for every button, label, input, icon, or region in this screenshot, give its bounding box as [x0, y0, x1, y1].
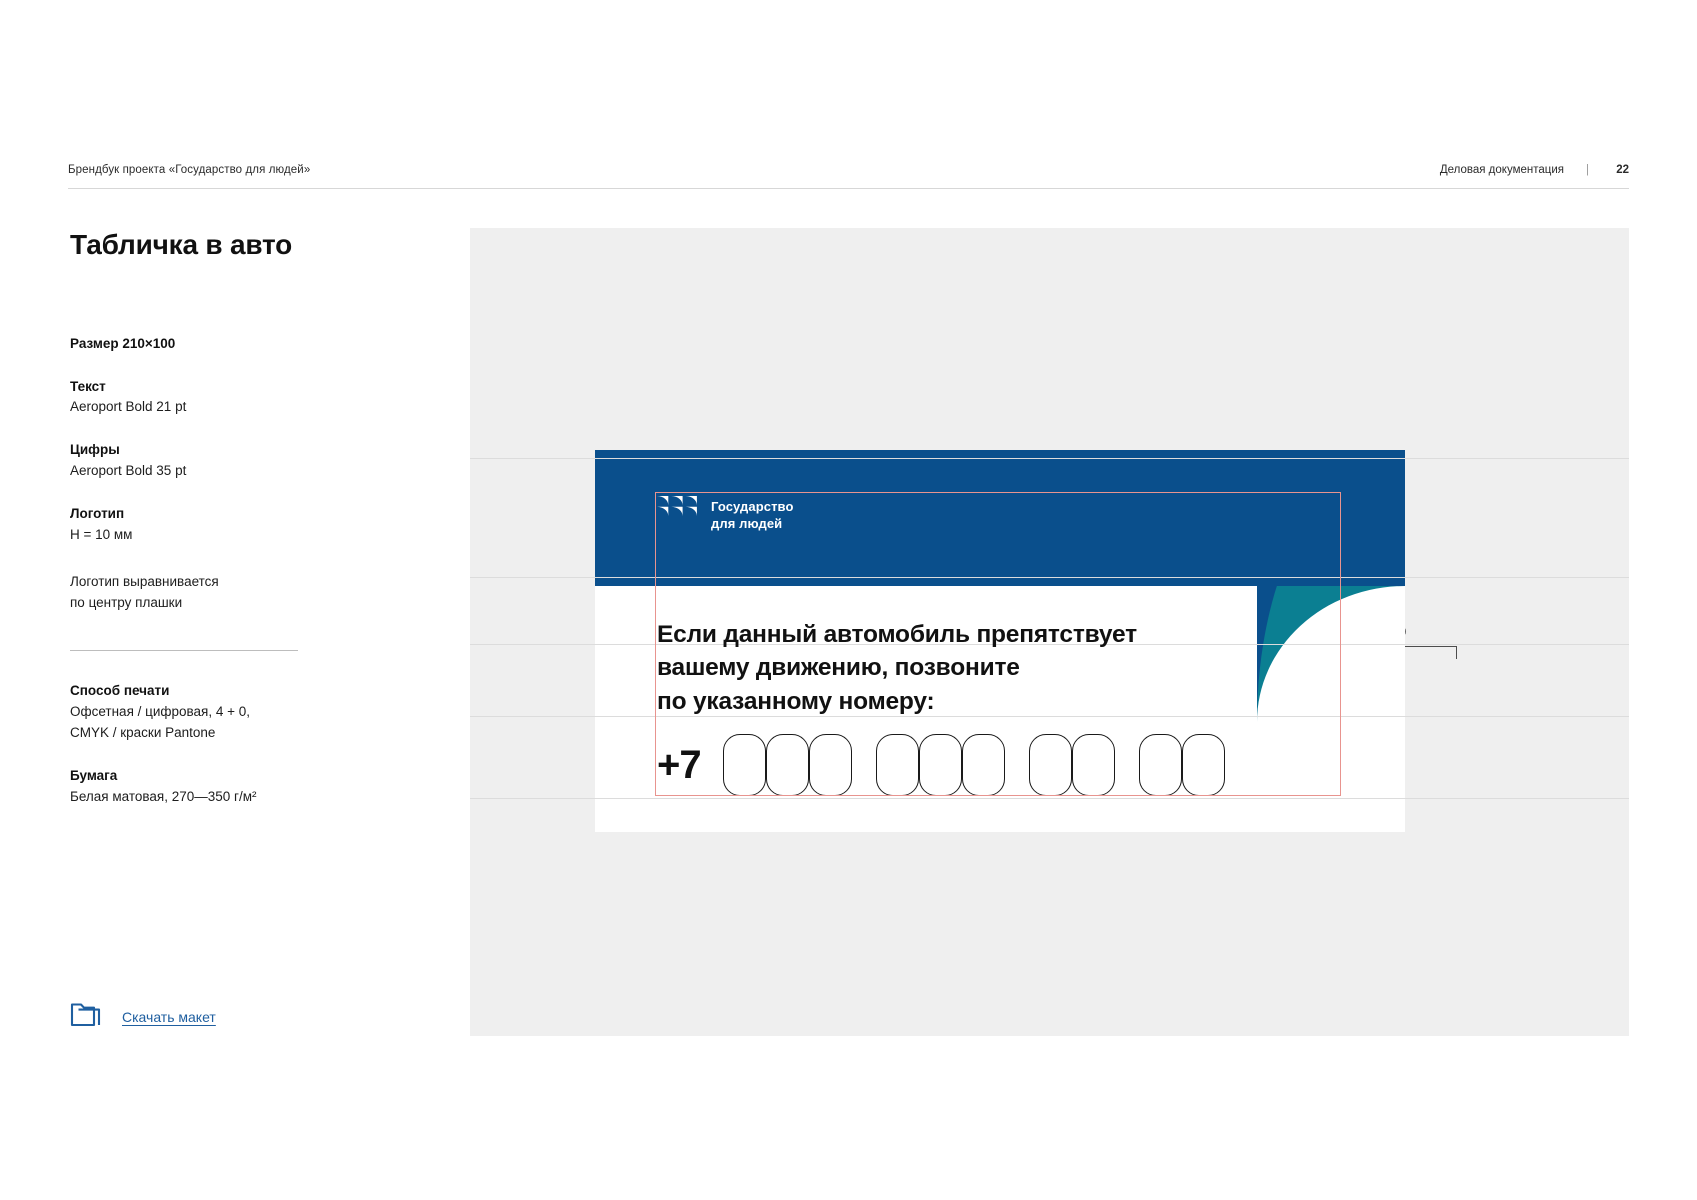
digit-box	[809, 734, 852, 796]
spec-print-title: Способ печати	[70, 681, 400, 702]
digit-box	[723, 734, 766, 796]
digit-box	[962, 734, 1005, 796]
spec-text-body: Aeroport Bold 21 pt	[70, 397, 400, 418]
plate-message: Если данный автомобиль препятствует ваше…	[657, 618, 1137, 718]
digit-box	[1182, 734, 1225, 796]
spec-size-title: Размер 210×100	[70, 334, 400, 355]
header-divider	[68, 188, 1629, 189]
spec-digits-title: Цифры	[70, 440, 400, 461]
page-title: Табличка в авто	[70, 228, 400, 262]
spec-logo-title: Логотип	[70, 504, 400, 525]
digit-box	[1072, 734, 1115, 796]
sidebar-divider	[70, 650, 298, 651]
brandbook-page: Брендбук проекта «Государство для людей»…	[0, 0, 1697, 1200]
spec-digits: Цифры Aeroport Bold 35 pt	[70, 440, 400, 482]
preview-stage: 15 30	[470, 228, 1629, 1036]
digit-group	[876, 734, 1005, 796]
spec-digits-body: Aeroport Bold 35 pt	[70, 461, 400, 482]
download-layout-label: Скачать макет	[122, 1009, 216, 1025]
sidebar: Табличка в авто Размер 210×100 Текст Aer…	[70, 228, 400, 808]
brandbook-title: Брендбук проекта «Государство для людей»	[68, 164, 310, 176]
section-label: Деловая документация	[1440, 164, 1564, 176]
spec-size: Размер 210×100	[70, 334, 400, 355]
phone-number-field: +7	[657, 734, 1225, 796]
spec-logo: Логотип H = 10 мм	[70, 504, 400, 546]
spec-text: Текст Aeroport Bold 21 pt	[70, 377, 400, 419]
page-number: 22	[1611, 164, 1629, 176]
digit-group	[1029, 734, 1115, 796]
digit-box	[1029, 734, 1072, 796]
digit-box	[919, 734, 962, 796]
header-right: Деловая документация | 22	[1440, 164, 1629, 176]
logo-alignment-note: Логотип выравнивается по центру плашки	[70, 572, 400, 614]
car-plate-mockup: Государство для людей Если данный автомо…	[595, 450, 1405, 832]
header-separator: |	[1586, 164, 1589, 176]
spec-paper-body: Белая матовая, 270—350 г/м²	[70, 787, 400, 808]
download-layout-link[interactable]: Скачать макет	[70, 1000, 216, 1033]
phone-country-prefix: +7	[657, 745, 701, 785]
logo-lockup: Государство для людей	[657, 496, 794, 536]
digit-box	[1139, 734, 1182, 796]
folder-icon	[70, 1000, 104, 1033]
logo-wordmark: Государство для людей	[711, 499, 794, 532]
spec-print: Способ печати Офсетная / цифровая, 4 + 0…	[70, 681, 400, 744]
spec-paper: Бумага Белая матовая, 270—350 г/м²	[70, 766, 400, 808]
gosudarstvo-logo-icon	[657, 496, 697, 536]
spec-text-title: Текст	[70, 377, 400, 398]
digit-box	[876, 734, 919, 796]
digit-group	[1139, 734, 1225, 796]
spec-print-body: Офсетная / цифровая, 4 + 0, CMYK / краск…	[70, 702, 400, 744]
spec-paper-title: Бумага	[70, 766, 400, 787]
digit-group	[723, 734, 852, 796]
digit-box	[766, 734, 809, 796]
spec-logo-body: H = 10 мм	[70, 525, 400, 546]
